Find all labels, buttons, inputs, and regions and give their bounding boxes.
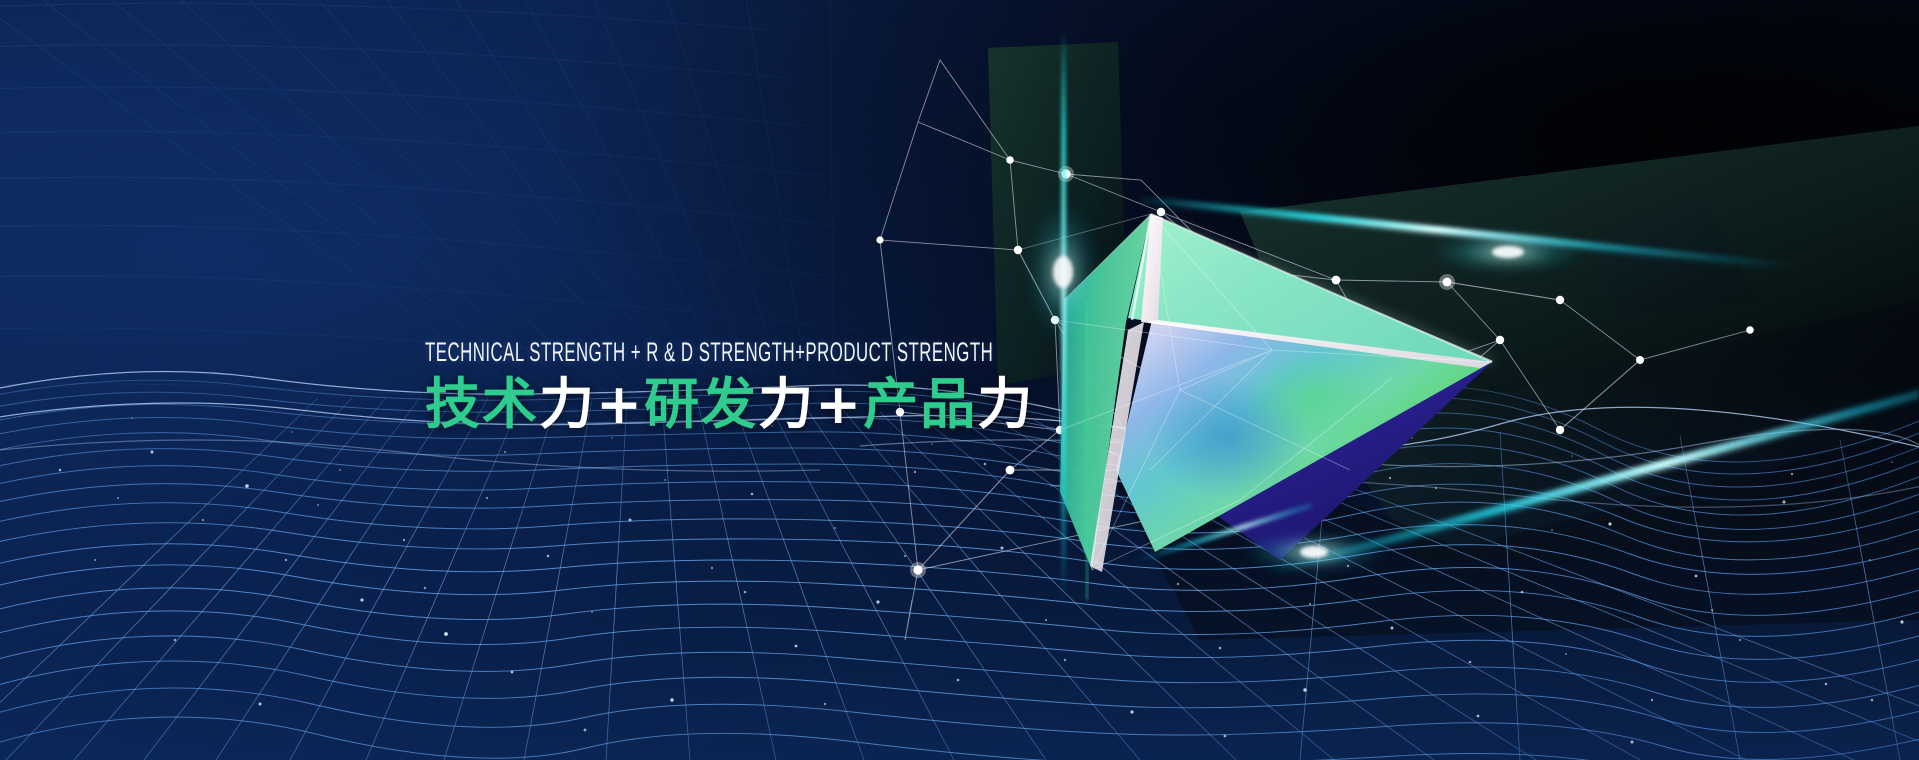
light-streaks <box>0 0 1919 760</box>
hero-banner: TECHNICAL STRENGTH + R & D STRENGTH+PROD… <box>0 0 1919 760</box>
